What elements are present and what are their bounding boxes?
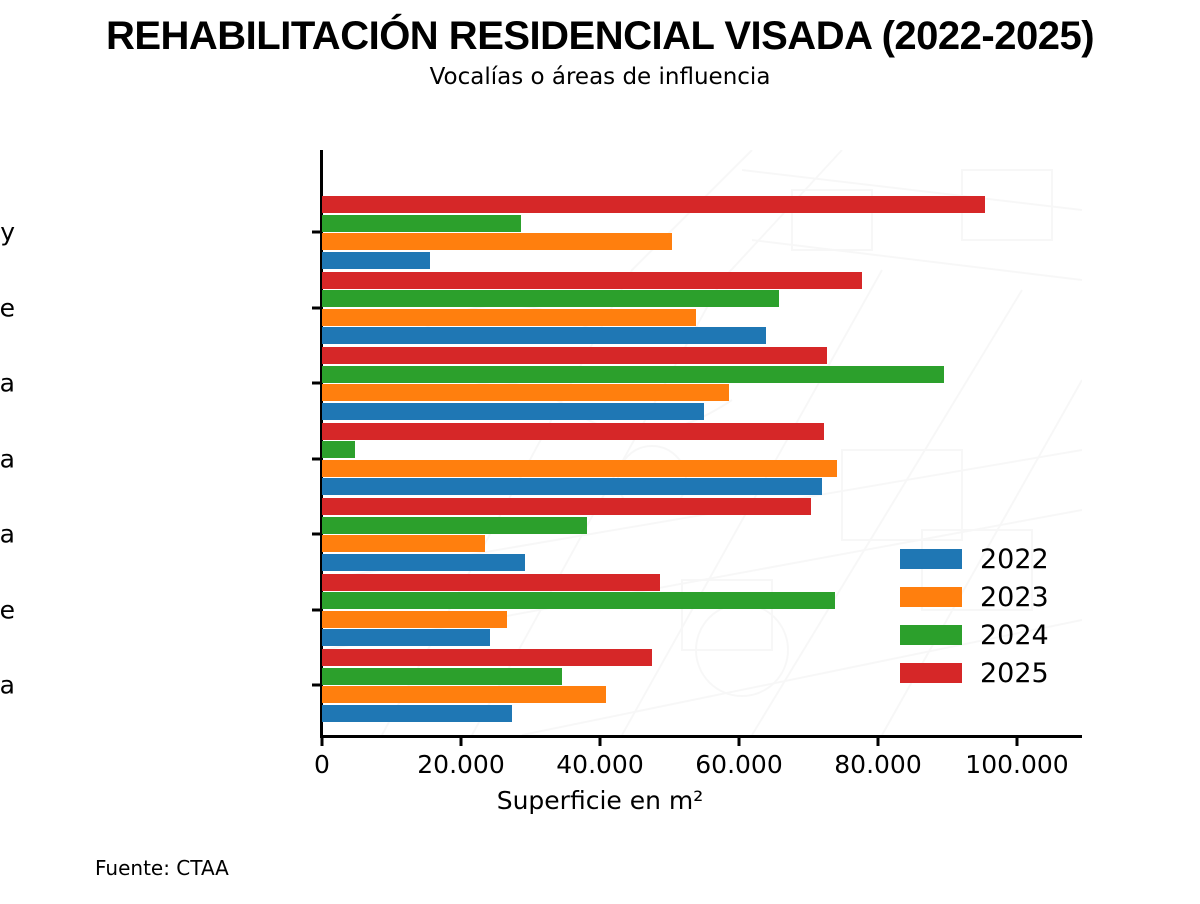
x-axis-label: Superficie en m² <box>0 786 1200 815</box>
bar-2025-alicante <box>322 272 862 289</box>
bar-2024-alicante <box>322 290 779 307</box>
bar-2022-elche <box>322 629 490 646</box>
bar-2025-elche <box>322 574 660 591</box>
legend-label: 2024 <box>980 622 1049 649</box>
legend-item-2025[interactable]: 2025 <box>900 654 1049 692</box>
bar-2025-marina-alta <box>322 347 827 364</box>
bar-2022-marina-baixa <box>322 478 822 495</box>
bar-2022-marina-alta <box>322 403 704 420</box>
x-tick-label: 20.000 <box>417 750 504 779</box>
chart-subtitle: Vocalías o áreas de influencia <box>0 64 1200 90</box>
bar-2023-elche <box>322 611 507 628</box>
legend-swatch-icon <box>900 625 962 645</box>
bar-2025-elda <box>322 649 652 666</box>
y-tick-label: Elche <box>0 595 15 624</box>
x-tick-mark <box>460 735 463 746</box>
bar-2023-alicante <box>322 309 696 326</box>
bar-2023-elda <box>322 686 606 703</box>
bar-2025-alcoy <box>322 196 985 213</box>
bar-2022-elda <box>322 705 512 722</box>
legend-item-2024[interactable]: 2024 <box>900 616 1049 654</box>
chart-container: REHABILITACIÓN RESIDENCIAL VISADA (2022-… <box>0 0 1200 904</box>
legend: 2022202320242025 <box>900 540 1049 692</box>
bar-2022-alcoy <box>322 252 430 269</box>
bar-2023-marina-alta <box>322 384 729 401</box>
x-tick-label: 80.000 <box>834 750 921 779</box>
x-tick-mark <box>1016 735 1019 746</box>
bar-2024-alcoy <box>322 215 521 232</box>
y-tick-label: Vega Baja <box>0 520 15 549</box>
x-tick-mark <box>599 735 602 746</box>
bar-2022-vega-baja <box>322 554 525 571</box>
legend-label: 2022 <box>980 546 1049 573</box>
y-tick-label: Elda <box>0 671 15 700</box>
legend-swatch-icon <box>900 663 962 683</box>
bar-2025-vega-baja <box>322 498 811 515</box>
bar-2023-vega-baja <box>322 535 485 552</box>
bar-2024-vega-baja <box>322 517 587 534</box>
bar-2022-alicante <box>322 327 766 344</box>
y-tick-label: Alicante <box>0 293 15 322</box>
bar-2024-elda <box>322 668 562 685</box>
x-tick-label: 60.000 <box>695 750 782 779</box>
legend-label: 2023 <box>980 584 1049 611</box>
bar-2024-marina-alta <box>322 366 944 383</box>
x-tick-label: 100.000 <box>965 750 1068 779</box>
x-tick-label: 0 <box>314 750 330 779</box>
x-axis-line <box>320 735 1082 738</box>
x-tick-label: 40.000 <box>556 750 643 779</box>
bar-2024-elche <box>322 592 835 609</box>
legend-label: 2025 <box>980 660 1049 687</box>
y-tick-label: Marina Alta <box>0 369 15 398</box>
y-tick-label: Marina Baixa <box>0 444 15 473</box>
x-tick-mark <box>321 735 324 746</box>
bar-2023-marina-baixa <box>322 460 837 477</box>
legend-swatch-icon <box>900 587 962 607</box>
bar-2025-marina-baixa <box>322 423 824 440</box>
x-tick-mark <box>877 735 880 746</box>
legend-item-2022[interactable]: 2022 <box>900 540 1049 578</box>
legend-item-2023[interactable]: 2023 <box>900 578 1049 616</box>
source-note: Fuente: CTAA <box>95 856 229 880</box>
x-tick-mark <box>738 735 741 746</box>
legend-swatch-icon <box>900 549 962 569</box>
y-tick-label: Alcoy <box>0 218 15 247</box>
bar-2023-alcoy <box>322 233 672 250</box>
bar-2024-marina-baixa <box>322 441 355 458</box>
chart-title: REHABILITACIÓN RESIDENCIAL VISADA (2022-… <box>0 14 1200 59</box>
